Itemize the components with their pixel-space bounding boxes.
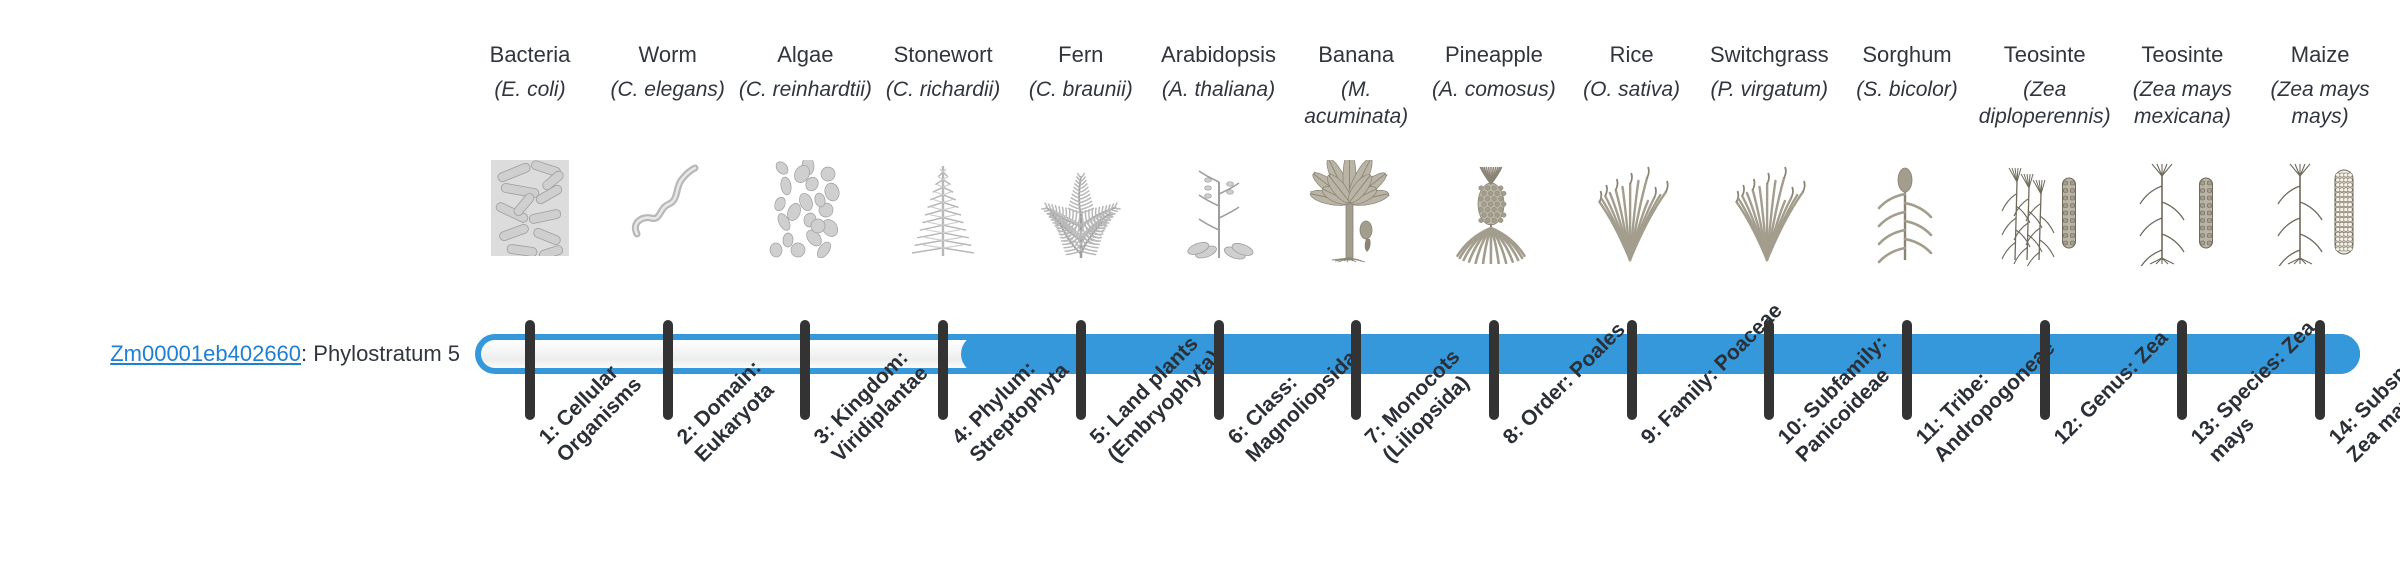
species-common-name: Arabidopsis <box>1150 40 1288 70</box>
nematode-worm-icon <box>599 160 737 305</box>
phylostratum-tick[interactable] <box>525 320 535 420</box>
maize-icon <box>2251 160 2389 305</box>
species-scientific-name: (S. bicolor) <box>1838 76 1976 103</box>
species-common-name: Banana <box>1287 40 1425 70</box>
phylostratum-tick[interactable] <box>1627 320 1637 420</box>
phylostratum-tick[interactable] <box>1764 320 1774 420</box>
species-header: Stonewort(C. richardii) <box>874 40 1012 103</box>
species-common-name: Rice <box>1563 40 1701 70</box>
phylostratum-tick[interactable] <box>1902 320 1912 420</box>
species-scientific-name: (A. thaliana) <box>1150 76 1288 103</box>
switchgrass-icon <box>1700 160 1838 305</box>
species-common-name: Stonewort <box>874 40 1012 70</box>
bacteria-icon <box>461 160 599 305</box>
species-column: Teosinte(Zea mays mexicana) <box>2113 0 2251 580</box>
species-common-name: Pineapple <box>1425 40 1563 70</box>
species-header: Switchgrass(P. virgatum) <box>1700 40 1838 103</box>
species-scientific-name: (P. virgatum) <box>1700 76 1838 103</box>
species-column: Banana(M. acuminata) <box>1287 0 1425 580</box>
phylostratum-tick[interactable] <box>2315 320 2325 420</box>
species-column: Teosinte(Zea diploperennis) <box>1976 0 2114 580</box>
species-scientific-name: (Zea diploperennis) <box>1976 76 2114 130</box>
species-header: Banana(M. acuminata) <box>1287 40 1425 130</box>
teosinte-mexicana-icon <box>2113 160 2251 305</box>
arabidopsis-icon <box>1150 160 1288 305</box>
species-scientific-name: (E. coli) <box>461 76 599 103</box>
gene-label-separator: : <box>301 341 313 366</box>
species-header: Sorghum(S. bicolor) <box>1838 40 1976 103</box>
gene-id-link[interactable]: Zm00001eb402660 <box>110 341 301 366</box>
species-scientific-name: (C. reinhardtii) <box>736 76 874 103</box>
sorghum-icon <box>1838 160 1976 305</box>
rice-plant-icon <box>1563 160 1701 305</box>
species-scientific-name: (A. comosus) <box>1425 76 1563 103</box>
species-header: Fern(C. braunii) <box>1012 40 1150 103</box>
species-header: Bacteria(E. coli) <box>461 40 599 103</box>
species-common-name: Algae <box>736 40 874 70</box>
species-scientific-name: (Zea mays mexicana) <box>2113 76 2251 130</box>
phylostratum-tick[interactable] <box>1214 320 1224 420</box>
species-scientific-name: (C. elegans) <box>599 76 737 103</box>
species-header: Rice(O. sativa) <box>1563 40 1701 103</box>
species-column: Rice(O. sativa) <box>1563 0 1701 580</box>
species-header: Teosinte(Zea mays mexicana) <box>2113 40 2251 130</box>
pineapple-icon <box>1425 160 1563 305</box>
phylostratum-tick[interactable] <box>1489 320 1499 420</box>
species-header: Teosinte(Zea diploperennis) <box>1976 40 2114 130</box>
green-algae-icon <box>736 160 874 305</box>
species-column: Maize(Zea mays mays) <box>2251 0 2389 580</box>
species-common-name: Maize <box>2251 40 2389 70</box>
species-column: Algae(C. reinhardtii) <box>736 0 874 580</box>
phylostratum-tick[interactable] <box>938 320 948 420</box>
species-column: Stonewort(C. richardii) <box>874 0 1012 580</box>
species-scientific-name: (Zea mays mays) <box>2251 76 2389 130</box>
phylostratum-tick[interactable] <box>663 320 673 420</box>
species-column: Sorghum(S. bicolor) <box>1838 0 1976 580</box>
species-scientific-name: (C. richardii) <box>874 76 1012 103</box>
phylostratum-tick[interactable] <box>2040 320 2050 420</box>
species-column: Worm(C. elegans) <box>599 0 737 580</box>
species-scientific-name: (O. sativa) <box>1563 76 1701 103</box>
species-scientific-name: (M. acuminata) <box>1287 76 1425 130</box>
species-column: Fern(C. braunii) <box>1012 0 1150 580</box>
species-column: Arabidopsis(A. thaliana) <box>1150 0 1288 580</box>
banana-plant-icon <box>1287 160 1425 305</box>
species-common-name: Bacteria <box>461 40 599 70</box>
species-common-name: Switchgrass <box>1700 40 1838 70</box>
species-column: Bacteria(E. coli) <box>461 0 599 580</box>
stonewort-icon <box>874 160 1012 305</box>
species-header: Maize(Zea mays mays) <box>2251 40 2389 130</box>
species-common-name: Worm <box>599 40 737 70</box>
species-header: Algae(C. reinhardtii) <box>736 40 874 103</box>
phylostratum-tick[interactable] <box>1351 320 1361 420</box>
gene-phylostratum-label: Zm00001eb402660: Phylostratum 5 <box>40 338 460 370</box>
species-common-name: Teosinte <box>2113 40 2251 70</box>
species-common-name: Teosinte <box>1976 40 2114 70</box>
teosinte-diploperennis-icon <box>1976 160 2114 305</box>
species-common-name: Fern <box>1012 40 1150 70</box>
species-header: Pineapple(A. comosus) <box>1425 40 1563 103</box>
fern-icon <box>1012 160 1150 305</box>
phylostratum-tick[interactable] <box>800 320 810 420</box>
phylostratum-tick[interactable] <box>2177 320 2187 420</box>
species-column: Pineapple(A. comosus) <box>1425 0 1563 580</box>
species-common-name: Sorghum <box>1838 40 1976 70</box>
phylostratum-value: Phylostratum 5 <box>313 341 460 366</box>
species-column: Switchgrass(P. virgatum) <box>1700 0 1838 580</box>
species-scientific-name: (C. braunii) <box>1012 76 1150 103</box>
species-header: Arabidopsis(A. thaliana) <box>1150 40 1288 103</box>
phylostratum-figure: Zm00001eb402660: Phylostratum 5 Bacteria… <box>0 0 2400 580</box>
phylostratum-tick[interactable] <box>1076 320 1086 420</box>
species-header: Worm(C. elegans) <box>599 40 737 103</box>
